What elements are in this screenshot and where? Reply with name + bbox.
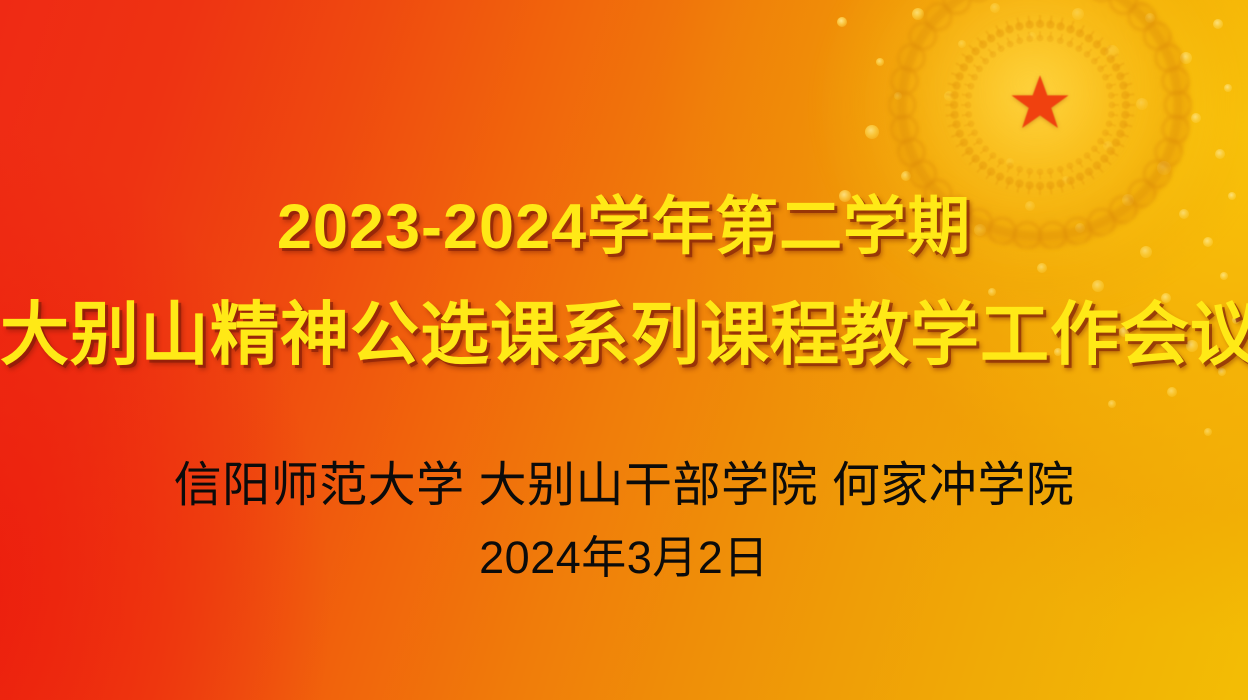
presentation-slide: 2023-2024学年第二学期 大别山精神公选课系列课程教学工作会议 信阳师范大… [0, 0, 1248, 700]
title-line-1: 2023-2024学年第二学期 [0, 196, 1248, 259]
date-line: 2024年3月2日 [0, 535, 1248, 580]
slide-text-content: 2023-2024学年第二学期 大别山精神公选课系列课程教学工作会议 信阳师范大… [0, 0, 1248, 700]
title-line-2: 大别山精神公选课系列课程教学工作会议 [0, 300, 1248, 369]
organizations-line: 信阳师范大学 大别山干部学院 何家冲学院 [0, 462, 1248, 510]
